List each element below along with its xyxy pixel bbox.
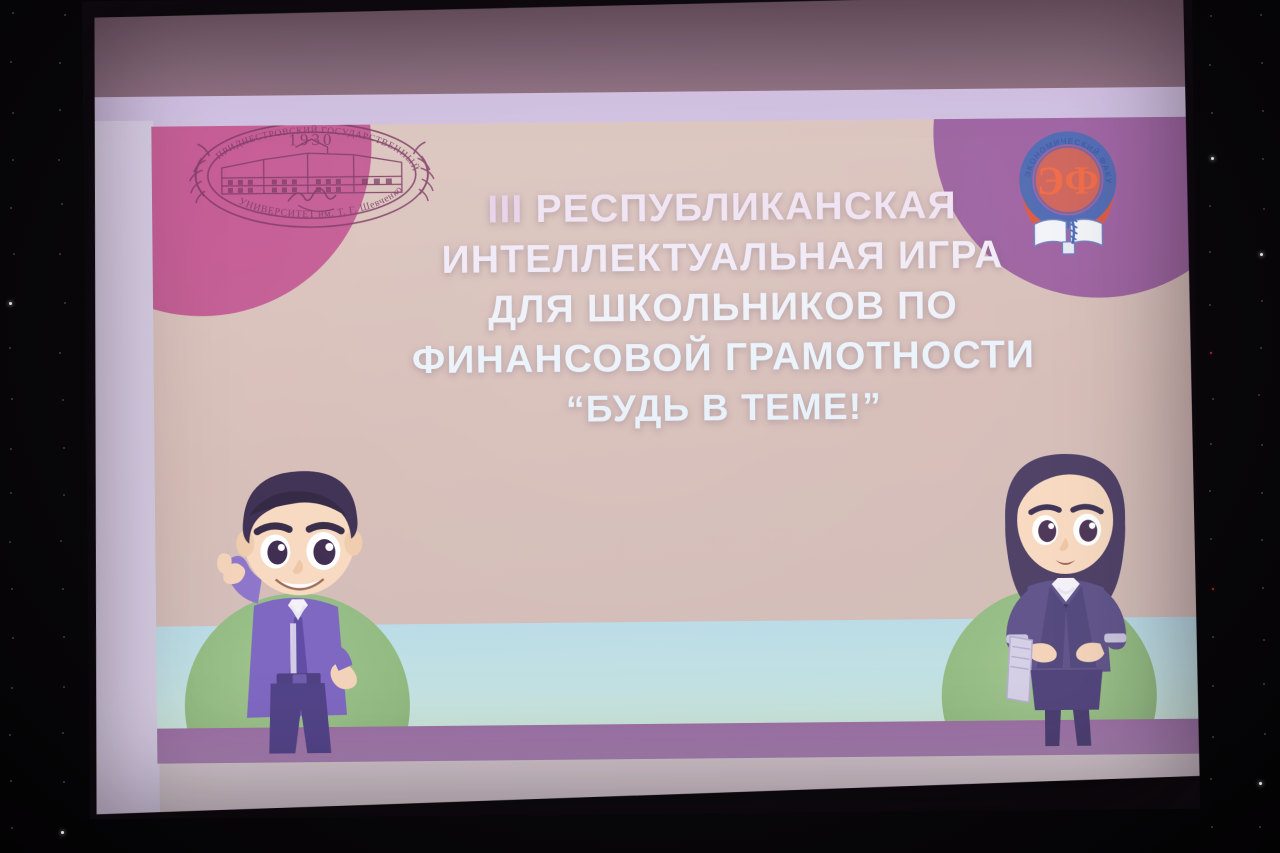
star-light bbox=[11, 588, 13, 590]
star-light bbox=[10, 61, 12, 63]
star-light bbox=[62, 732, 64, 734]
star-light bbox=[10, 448, 12, 450]
star-light bbox=[63, 781, 65, 783]
star-light bbox=[62, 399, 64, 401]
boy-mascot bbox=[194, 454, 407, 756]
star-light bbox=[1210, 778, 1212, 780]
star-light bbox=[1210, 15, 1212, 17]
star-light bbox=[1263, 208, 1265, 210]
star-light bbox=[12, 112, 14, 114]
star-light bbox=[1210, 443, 1212, 445]
title-line-2: ИНТЕЛЛЕКТУАЛЬНАЯ ИГРА bbox=[352, 230, 1092, 287]
star-light bbox=[63, 686, 65, 688]
star-light bbox=[59, 62, 61, 64]
star-light bbox=[1261, 300, 1263, 302]
screen-top-band bbox=[82, 0, 1193, 101]
star-light bbox=[60, 540, 62, 542]
star-light bbox=[1260, 347, 1262, 349]
star-light bbox=[1258, 394, 1260, 396]
star-light bbox=[64, 302, 66, 304]
star-light bbox=[62, 588, 64, 590]
star-light bbox=[1259, 782, 1262, 785]
star-light bbox=[1261, 492, 1263, 494]
screen-left-strip bbox=[83, 121, 160, 820]
star-light bbox=[1263, 683, 1265, 685]
title-line-5: “БУДЬ В ТЕМЕ!” bbox=[354, 380, 1094, 437]
star-light bbox=[1261, 62, 1263, 64]
star-light bbox=[1212, 398, 1214, 400]
stage-photo: 1930 ПРИДНЕСТРОВСКИЙ ГОСУДАРСТВЕННЫЙ УНИ… bbox=[0, 0, 1280, 853]
presentation-slide: 1930 ПРИДНЕСТРОВСКИЙ ГОСУДАРСТВЕННЫЙ УНИ… bbox=[151, 117, 1199, 764]
star-light bbox=[1261, 539, 1263, 541]
star-light bbox=[1212, 636, 1214, 638]
star-light bbox=[1262, 587, 1264, 589]
star-light bbox=[63, 494, 65, 496]
star-light bbox=[9, 347, 11, 349]
star-light bbox=[1262, 110, 1264, 112]
slide-title: III РЕСПУБЛИКАНСКАЯ ИНТЕЛЛЕКТУАЛЬНАЯ ИГР… bbox=[352, 180, 1094, 437]
star-light bbox=[13, 253, 15, 255]
star-light bbox=[59, 253, 61, 255]
star-light bbox=[1211, 826, 1213, 828]
star-light bbox=[1209, 205, 1211, 207]
star-light bbox=[1210, 352, 1212, 354]
star-light bbox=[1211, 112, 1213, 114]
star-light bbox=[63, 636, 65, 638]
star-light bbox=[1260, 253, 1263, 256]
star-light bbox=[9, 734, 11, 736]
star-light bbox=[12, 12, 14, 14]
star-light bbox=[12, 637, 14, 639]
star-light bbox=[58, 159, 60, 161]
star-light bbox=[1260, 14, 1262, 16]
star-light bbox=[11, 687, 13, 689]
girl-mascot bbox=[974, 437, 1157, 749]
star-light bbox=[1212, 736, 1214, 738]
star-light bbox=[1209, 490, 1211, 492]
star-light bbox=[1209, 304, 1211, 306]
title-line-1-rest: РЕСПУБЛИКАНСКАЯ bbox=[523, 184, 957, 231]
projection-screen-wrap: 1930 ПРИДНЕСТРОВСКИЙ ГОСУДАРСТВЕННЫЙ УНИ… bbox=[82, 0, 1200, 819]
star-light bbox=[9, 302, 12, 305]
title-line-1: III РЕСПУБЛИКАНСКАЯ bbox=[352, 180, 1092, 237]
star-light bbox=[10, 492, 12, 494]
star-light bbox=[10, 207, 12, 209]
star-light bbox=[1209, 64, 1211, 66]
star-light bbox=[1263, 639, 1265, 641]
star-light bbox=[1212, 588, 1214, 590]
star-light bbox=[1262, 158, 1264, 160]
star-light bbox=[1211, 157, 1214, 160]
star-light bbox=[11, 827, 13, 829]
star-light bbox=[61, 203, 63, 205]
title-line-3: ДЛЯ ШКОЛЬНИКОВ ПО bbox=[353, 280, 1093, 337]
star-light bbox=[12, 159, 14, 161]
star-light bbox=[1264, 733, 1266, 735]
star-light bbox=[1212, 685, 1214, 687]
star-light bbox=[59, 109, 61, 111]
star-light bbox=[59, 352, 61, 354]
title-line-4: ФИНАНСОВОЙ ГРАМОТНОСТИ bbox=[353, 330, 1093, 387]
star-light bbox=[10, 780, 12, 782]
title-numeral: III bbox=[487, 188, 524, 231]
star-light bbox=[1259, 826, 1261, 828]
projection-screen: 1930 ПРИДНЕСТРОВСКИЙ ГОСУДАРСТВЕННЫЙ УНИ… bbox=[82, 0, 1200, 819]
star-light bbox=[64, 14, 66, 16]
star-light bbox=[1210, 538, 1212, 540]
star-light bbox=[63, 447, 65, 449]
star-light bbox=[61, 831, 64, 834]
star-light bbox=[1209, 251, 1211, 253]
star-light bbox=[1261, 444, 1263, 446]
star-light bbox=[11, 398, 13, 400]
star-light bbox=[9, 541, 11, 543]
